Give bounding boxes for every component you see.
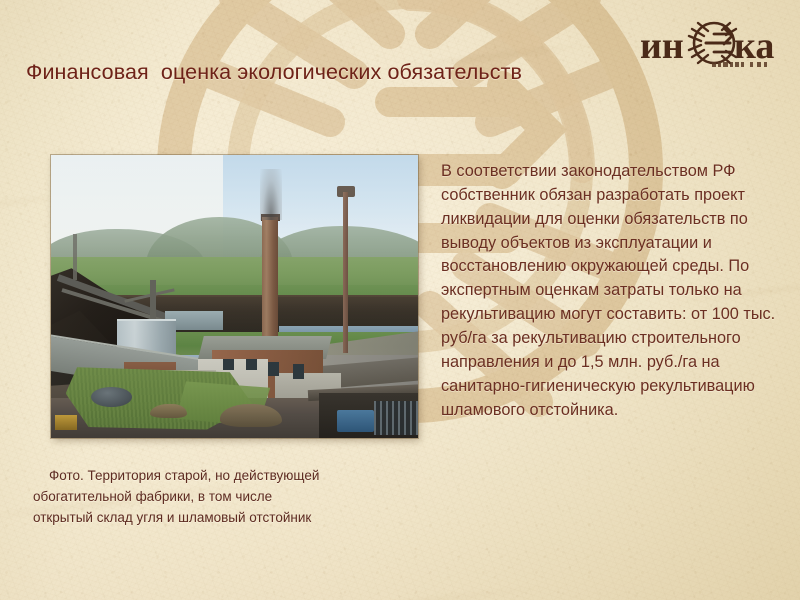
photo-brick-chimney <box>262 217 278 353</box>
photo-mast <box>73 234 77 279</box>
photo-caption: Фото. Территория старой, но действующей … <box>25 466 425 529</box>
svg-text:ка: ка <box>734 25 774 67</box>
photo-window <box>223 359 234 370</box>
photo-debris-heap-2 <box>150 404 187 418</box>
slide-title: Финансовая оценка экологических обязател… <box>26 60 666 86</box>
photo-yellow-equipment <box>55 415 77 429</box>
photo-round-concrete-tank <box>91 387 131 407</box>
body-paragraph: В соответствии законодательством РФ собс… <box>441 160 789 422</box>
photo-stacker-tower <box>150 280 156 325</box>
photo-metal-grate <box>374 401 418 435</box>
presentation-slide: ин ка <box>0 0 800 600</box>
photo-window <box>246 359 257 370</box>
photo-smoke-plume <box>260 169 282 220</box>
photo-caption-line-3: открытый склад угля и шламовый отстойник <box>25 508 425 529</box>
photo-window <box>293 364 304 378</box>
photo-caption-line-2: обогатительной фабрики, в том числе <box>25 487 425 508</box>
photo-blue-machinery <box>337 410 374 433</box>
photo-light-pole <box>343 192 349 353</box>
photo-caption-line-1: Фото. Территория старой, но действующей <box>25 466 425 487</box>
photo-window <box>268 362 279 376</box>
factory-photo <box>51 155 418 438</box>
